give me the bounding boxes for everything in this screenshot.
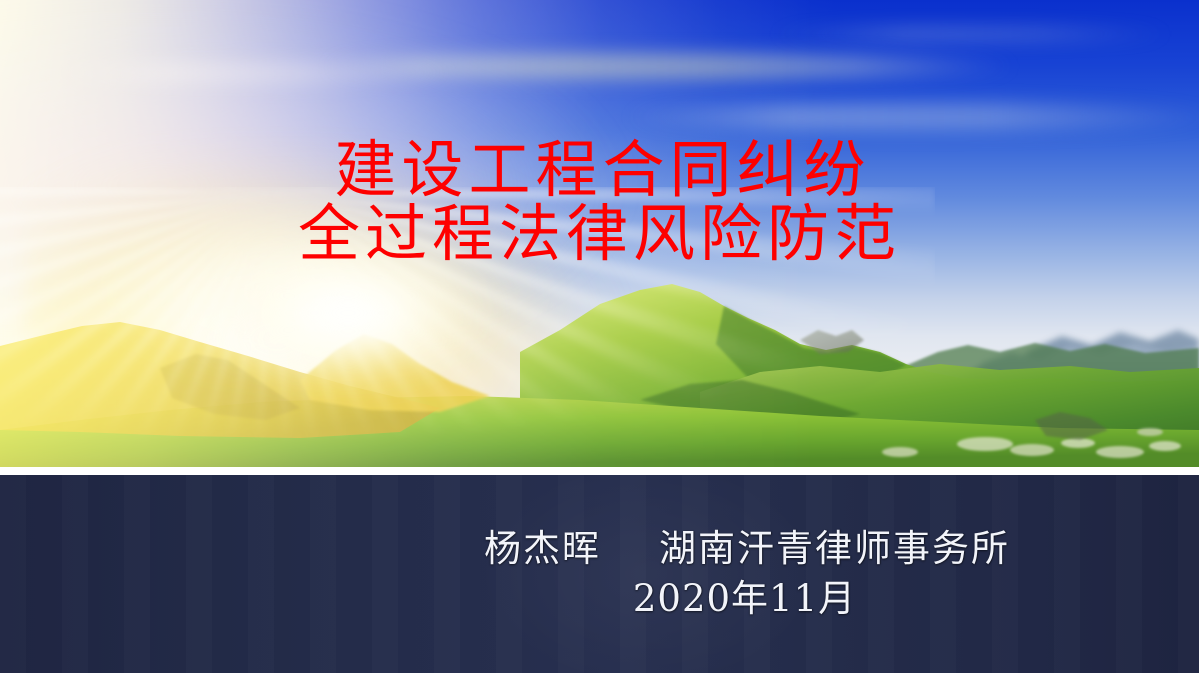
sun-core — [192, 234, 504, 393]
landscape-svg — [0, 0, 1199, 467]
footer-band — [0, 475, 1199, 673]
title-slide: 建设工程合同纠纷 全过程法律风险防范 杨杰晖湖南汗青律师事务所 2020年11月 — [0, 0, 1199, 673]
band-sheen — [408, 475, 888, 673]
band-texture — [0, 475, 1199, 673]
white-separator — [0, 467, 1199, 475]
background-photo — [0, 0, 1199, 467]
landscape — [0, 0, 1199, 467]
